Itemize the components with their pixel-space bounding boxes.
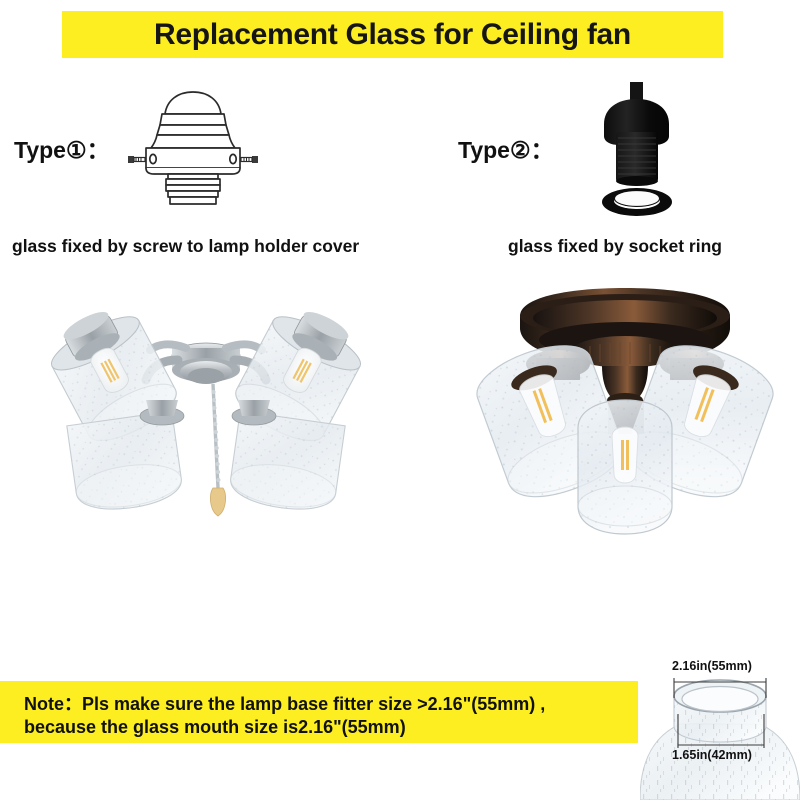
note-line-1: Note：Pls make sure the lamp base fitter …	[24, 690, 545, 716]
inner-dimension-label: 1.65in(42mm)	[672, 748, 752, 762]
screw-left-icon	[128, 156, 145, 163]
infographic-canvas: Replacement Glass for Ceiling fan Type①：	[0, 0, 800, 800]
type-1-label: Type①：	[14, 131, 110, 165]
outer-dimension-label: 2.16in(55mm)	[672, 659, 752, 673]
screw-right-icon	[241, 156, 258, 163]
product-photo-bronze-flush-mount	[440, 278, 800, 568]
type-2-caption: glass fixed by socket ring	[508, 236, 722, 257]
pull-chain-icon	[210, 384, 225, 516]
socket-and-ring-photo	[578, 78, 714, 216]
note-banner: Note：Pls make sure the lamp base fitter …	[0, 681, 638, 743]
page-title: Replacement Glass for Ceiling fan	[154, 18, 631, 52]
product-photo-nickel-fan-light	[10, 288, 400, 548]
type-1-caption: glass fixed by screw to lamp holder cove…	[12, 236, 359, 257]
lamp-holder-cover-icon	[118, 84, 268, 212]
glass-mouth-dimension-diagram	[640, 652, 800, 800]
type-2-label: Type②：	[458, 131, 554, 165]
title-banner: Replacement Glass for Ceiling fan	[62, 11, 723, 58]
socket-ring-icon	[602, 188, 672, 216]
note-line-2: because the glass mouth size is2.16"(55m…	[24, 717, 406, 738]
